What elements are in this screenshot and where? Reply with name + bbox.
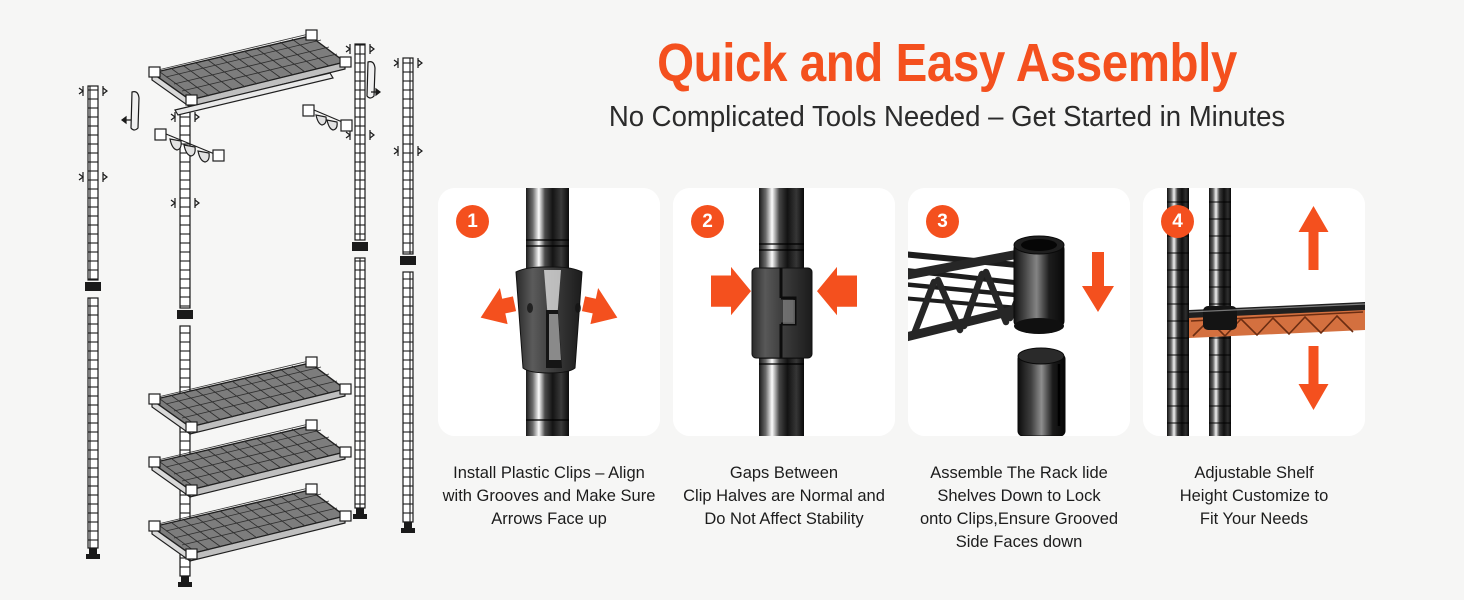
step-caption-4: Adjustable Shelf Height Customize to Fit… [1143, 462, 1365, 554]
steps-caption-row: Install Plastic Clips – Align with Groov… [438, 462, 1456, 554]
step-badge-2: 2 [691, 205, 724, 238]
step-caption-2: Gaps Between Clip Halves are Normal and … [673, 462, 895, 554]
step-card-4[interactable]: 4 [1143, 188, 1365, 436]
step-card-3[interactable]: 3 [908, 188, 1130, 436]
exploded-parts-diagram [0, 0, 430, 600]
step-badge-1: 1 [456, 205, 489, 238]
corner-sleeve [1014, 236, 1064, 334]
step-caption-3: Assemble The Rack lide Shelves Down to L… [908, 462, 1130, 554]
step-caption-1: Install Plastic Clips – Align with Groov… [438, 462, 660, 554]
step-card-1[interactable]: 1 [438, 188, 660, 436]
loose-clip-cylinder [1018, 348, 1065, 436]
step-card-2[interactable]: 2 [673, 188, 895, 436]
page-subtitle: No Complicated Tools Needed – Get Starte… [456, 98, 1438, 136]
content-area: Quick and Easy Assembly No Complicated T… [430, 0, 1464, 600]
infographic-root: Quick and Easy Assembly No Complicated T… [0, 0, 1464, 600]
page-title: Quick and Easy Assembly [492, 32, 1402, 94]
step-badge-3: 3 [926, 205, 959, 238]
steps-card-row: 1 [438, 188, 1456, 438]
step-badge-4: 4 [1161, 205, 1194, 238]
